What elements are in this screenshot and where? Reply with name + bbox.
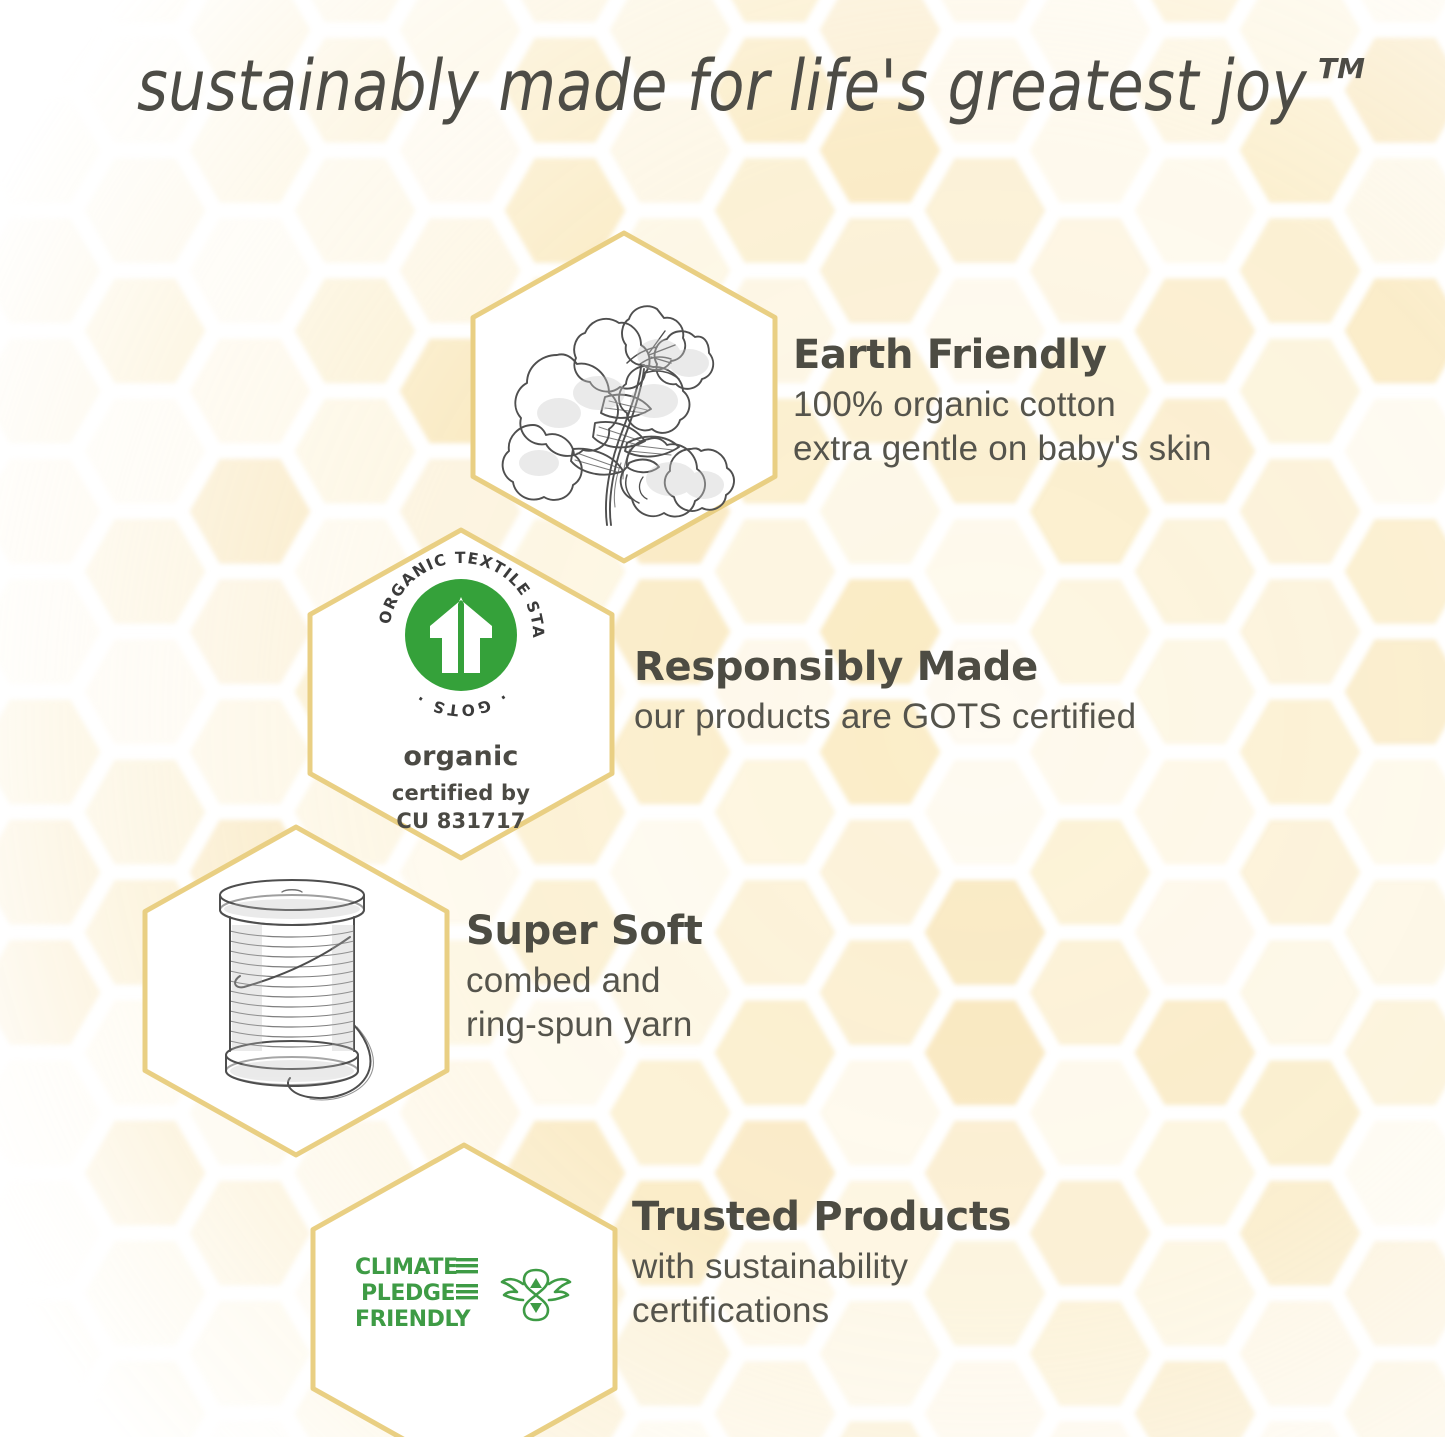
- honeycomb-cell: [925, 158, 1046, 263]
- honeycomb-cell: [295, 278, 416, 383]
- cpf-line3: FRIENDLY: [355, 1307, 472, 1332]
- feature-line: ring-spun yarn: [466, 1003, 703, 1047]
- honeycomb-cell: [1135, 158, 1256, 263]
- honeycomb-cell: [1135, 1121, 1256, 1226]
- honeycomb-cell: [295, 158, 416, 263]
- feature-text-earth-friendly: Earth Friendly 100% organic cotton extra…: [793, 334, 1212, 471]
- honeycomb-cell: [1030, 1181, 1151, 1286]
- honeycomb-cell: [0, 218, 101, 323]
- honeycomb-cell: [925, 0, 1046, 22]
- honeycomb-cell: [1240, 700, 1361, 805]
- feature-line: extra gentle on baby's skin: [793, 427, 1212, 471]
- honeycomb-cell: [0, 1060, 101, 1165]
- feature-line: with sustainability: [632, 1245, 1011, 1289]
- honeycomb-cell: [610, 1060, 731, 1165]
- honeycomb-cell: [1345, 158, 1445, 263]
- gots-certified-by-label: certified by: [368, 781, 554, 807]
- honeycomb-cell: [190, 459, 311, 564]
- feature-title: Trusted Products: [632, 1196, 1011, 1239]
- winged-hourglass-icon: [499, 1258, 573, 1332]
- honeycomb-cell: [0, 700, 101, 805]
- honeycomb-cell: [715, 1000, 836, 1105]
- honeycomb-cell: [190, 339, 311, 444]
- feature-hexagon-responsibly-made: GLOBAL ORGANIC TEXTILE STANDARD · GOTS ·…: [305, 525, 617, 863]
- honeycomb-cell: [1345, 0, 1445, 22]
- honeycomb-cell: [1240, 1301, 1361, 1406]
- honeycomb-cell: [190, 579, 311, 684]
- honeycomb-cell: [190, 218, 311, 323]
- honeycomb-cell: [1135, 519, 1256, 624]
- honeycomb-cell: [1030, 1421, 1151, 1437]
- feature-line: combed and: [466, 959, 703, 1003]
- sustainability-infographic: sustainably made for life's greatest joy…: [0, 0, 1445, 1437]
- honeycomb-cell: [85, 519, 206, 624]
- honeycomb-cell: [85, 1361, 206, 1437]
- honeycomb-cell: [1135, 1000, 1256, 1105]
- honeycomb-cell: [1135, 880, 1256, 985]
- feature-title: Responsibly Made: [634, 646, 1136, 689]
- honeycomb-cell: [1240, 940, 1361, 1045]
- gots-organic-label: organic: [368, 741, 554, 772]
- trademark-symbol: TM: [1318, 52, 1365, 85]
- honeycomb-cell: [1240, 218, 1361, 323]
- honeycomb-cell: [0, 579, 101, 684]
- thread-spool-sketch-icon: [182, 865, 410, 1117]
- feature-hexagon-super-soft: [140, 822, 452, 1160]
- honeycomb-cell: [1240, 1181, 1361, 1286]
- feature-hexagon-trusted-products: CLIMATE PLEDGE FRIENDLY: [308, 1140, 620, 1437]
- honeycomb-cell: [295, 399, 416, 504]
- honeycomb-cell: [925, 880, 1046, 985]
- honeycomb-cell: [1135, 1361, 1256, 1437]
- honeycomb-cell: [715, 0, 836, 22]
- honeycomb-cell: [190, 1181, 311, 1286]
- feature-hexagon-earth-friendly: [468, 228, 780, 566]
- honeycomb-cell: [1030, 940, 1151, 1045]
- honeycomb-cell: [820, 820, 941, 925]
- honeycomb-cell: [925, 1000, 1046, 1105]
- honeycomb-cell: [295, 0, 416, 22]
- honeycomb-cell: [1135, 760, 1256, 865]
- cotton-branch-sketch-icon: [499, 263, 749, 531]
- honeycomb-cell: [715, 1361, 836, 1437]
- honeycomb-cell: [505, 0, 626, 22]
- honeycomb-cell: [0, 459, 101, 564]
- honeycomb-cell: [1345, 880, 1445, 985]
- honeycomb-cell: [1345, 760, 1445, 865]
- honeycomb-cell: [925, 760, 1046, 865]
- cpf-line2: PLEDGE: [361, 1281, 455, 1306]
- honeycomb-cell: [1135, 1241, 1256, 1346]
- honeycomb-cell: [1240, 820, 1361, 925]
- honeycomb-cell: [820, 1060, 941, 1165]
- honeycomb-cell: [1345, 1241, 1445, 1346]
- feature-text-responsibly-made: Responsibly Made our products are GOTS c…: [634, 646, 1136, 739]
- honeycomb-cell: [190, 700, 311, 805]
- honeycomb-cell: [0, 820, 101, 925]
- honeycomb-cell: [0, 1181, 101, 1286]
- cpf-line1: CLIMATE: [355, 1255, 458, 1280]
- honeycomb-cell: [0, 1421, 101, 1437]
- honeycomb-cell: [1030, 459, 1151, 564]
- honeycomb-cell: [85, 1241, 206, 1346]
- headline-script-text: sustainably made for life's greatest joy: [137, 45, 1308, 127]
- honeycomb-cell: [1135, 639, 1256, 744]
- honeycomb-cell: [820, 459, 941, 564]
- honeycomb-cell: [820, 218, 941, 323]
- feature-line: 100% organic cotton: [793, 383, 1212, 427]
- honeycomb-cell: [1345, 278, 1445, 383]
- honeycomb-cell: [1240, 579, 1361, 684]
- honeycomb-cell: [1240, 339, 1361, 444]
- gots-seal-graphic: GLOBAL ORGANIC TEXTILE STANDARD · GOTS ·: [368, 542, 554, 728]
- honeycomb-cell: [190, 1301, 311, 1406]
- feature-text-trusted-products: Trusted Products with sustainability cer…: [632, 1196, 1011, 1333]
- honeycomb-cell: [1345, 519, 1445, 624]
- honeycomb-cell: [1345, 639, 1445, 744]
- feature-title: Earth Friendly: [793, 334, 1212, 377]
- honeycomb-cell: [0, 940, 101, 1045]
- gots-ring-bottom-text: · GOTS ·: [411, 688, 510, 719]
- honeycomb-cell: [715, 760, 836, 865]
- honeycomb-cell: [1345, 399, 1445, 504]
- honeycomb-cell: [925, 519, 1046, 624]
- honeycomb-cell: [610, 1421, 731, 1437]
- honeycomb-cell: [85, 399, 206, 504]
- honeycomb-cell: [1030, 218, 1151, 323]
- honeycomb-cell: [190, 1421, 311, 1437]
- feature-line: our products are GOTS certified: [634, 695, 1136, 739]
- honeycomb-cell: [925, 1361, 1046, 1437]
- honeycomb-cell: [820, 940, 941, 1045]
- climate-pledge-friendly-icon: CLIMATE PLEDGE FRIENDLY: [355, 1254, 573, 1336]
- feature-title: Super Soft: [466, 910, 703, 953]
- honeycomb-cell: [1030, 1060, 1151, 1165]
- honeycomb-cell: [1240, 459, 1361, 564]
- feature-text-super-soft: Super Soft combed and ring-spun yarn: [466, 910, 703, 1047]
- honeycomb-cell: [1345, 1121, 1445, 1226]
- honeycomb-cell: [1240, 1421, 1361, 1437]
- honeycomb-cell: [85, 158, 206, 263]
- honeycomb-cell: [715, 880, 836, 985]
- honeycomb-cell: [85, 278, 206, 383]
- page-title: sustainably made for life's greatest joy…: [0, 26, 1445, 146]
- honeycomb-cell: [0, 339, 101, 444]
- honeycomb-cell: [1240, 1060, 1361, 1165]
- cpf-wordmark: CLIMATE PLEDGE FRIENDLY: [355, 1254, 483, 1336]
- gots-organic-seal-icon: GLOBAL ORGANIC TEXTILE STANDARD · GOTS ·…: [368, 542, 554, 834]
- honeycomb-cell: [820, 1421, 941, 1437]
- honeycomb-cell: [85, 0, 206, 22]
- honeycomb-cell: [1345, 1361, 1445, 1437]
- honeycomb-cell: [85, 639, 206, 744]
- honeycomb-cell: [1030, 820, 1151, 925]
- honeycomb-cell: [1345, 1000, 1445, 1105]
- feature-line: certifications: [632, 1289, 1011, 1333]
- honeycomb-cell: [0, 1301, 101, 1406]
- honeycomb-cell: [1030, 1301, 1151, 1406]
- honeycomb-cell: [1135, 0, 1256, 22]
